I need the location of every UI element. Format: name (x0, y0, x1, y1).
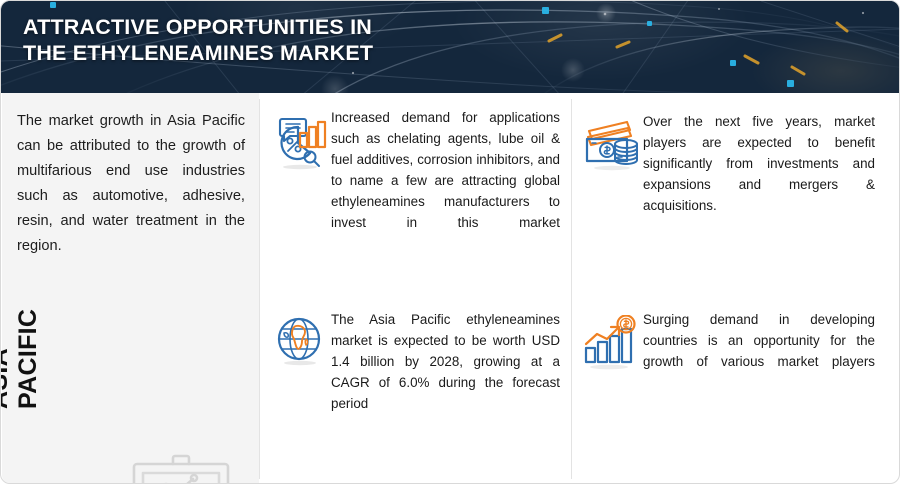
banknotes-coins-dollar-icon (580, 115, 640, 178)
infographic-card: ATTRACTIVE OPPORTUNITIES IN THE ETHYLENE… (0, 0, 900, 484)
list-item-text: The Asia Pacific ethyleneamines market i… (331, 309, 560, 435)
left-panel-paragraph: The market growth in Asia Pacific can be… (17, 109, 245, 259)
growth-barchart-dollar-arrow-icon (580, 315, 638, 376)
percent-report-barchart-magnifier-icon (270, 113, 328, 176)
region-label: ASIA PACIFIC (0, 259, 43, 409)
right-column: Over the next five years, market players… (572, 93, 900, 484)
list-item-text: Surging demand in developing countries i… (643, 309, 875, 393)
globe-icon (272, 313, 328, 374)
presentation-board-chart-magnifier-icon (127, 448, 235, 484)
left-panel: The market growth in Asia Pacific can be… (2, 93, 259, 484)
page-title: ATTRACTIVE OPPORTUNITIES IN THE ETHYLENE… (23, 14, 583, 66)
header-banner: ATTRACTIVE OPPORTUNITIES IN THE ETHYLENE… (1, 1, 900, 93)
list-item-text: Increased demand for applications such a… (331, 107, 560, 254)
middle-column: Increased demand for applications such a… (260, 93, 571, 484)
content-area: The market growth in Asia Pacific can be… (1, 93, 900, 484)
list-item-text: Over the next five years, market players… (643, 111, 875, 237)
